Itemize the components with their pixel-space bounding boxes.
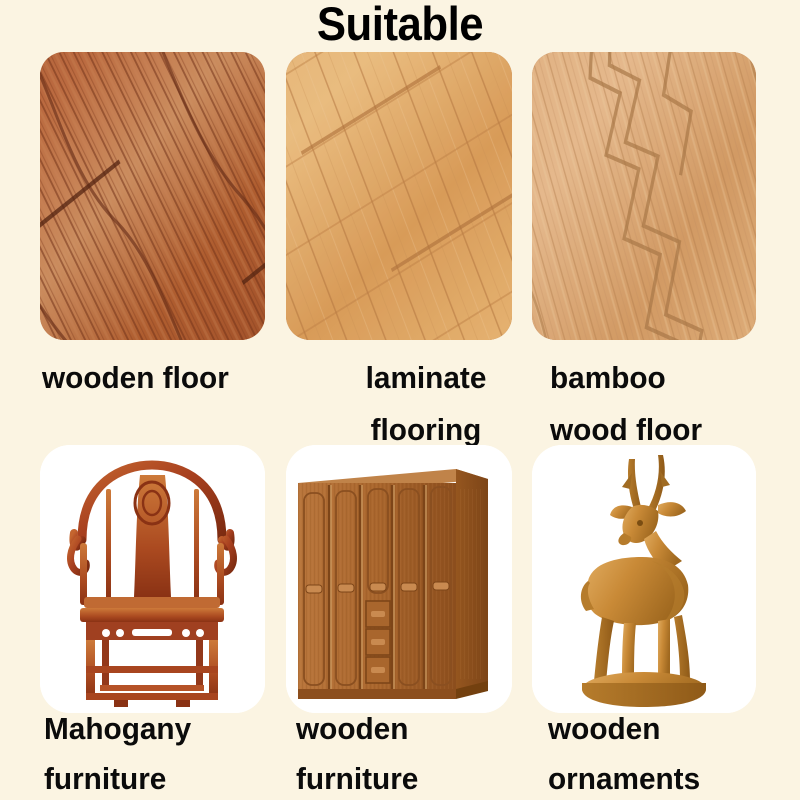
five-door-wardrobe-image <box>286 445 512 713</box>
card-wooden-furniture[interactable] <box>286 445 512 713</box>
horseshoe-back-armchair-image <box>40 445 265 713</box>
caption-wooden-floor: wooden floor <box>42 352 263 404</box>
wood-grain-honey-laminate <box>286 52 512 340</box>
caption-mahogany-furniture: Mahogany furniture <box>44 704 265 800</box>
card-wooden-ornaments[interactable] <box>532 445 756 713</box>
infographic-page: Suitable <box>0 0 800 800</box>
wood-grain-pale-bamboo <box>532 52 756 340</box>
swatch-wooden-floor[interactable] <box>40 52 265 340</box>
caption-wooden-ornaments: wooden ornaments <box>548 704 769 800</box>
caption-wooden-furniture: wooden furniture <box>296 704 507 800</box>
card-mahogany-furniture[interactable] <box>40 445 265 713</box>
wood-grain-dark-red <box>40 52 265 340</box>
swatch-laminate-flooring[interactable] <box>286 52 512 340</box>
carved-antelope-statue-image <box>532 445 756 713</box>
caption-laminate-flooring: laminate flooring <box>330 352 522 456</box>
swatch-bamboo-wood-floor[interactable] <box>532 52 756 340</box>
page-title: Suitable <box>28 0 772 49</box>
caption-bamboo-wood-floor: bamboo wood floor <box>550 352 752 456</box>
